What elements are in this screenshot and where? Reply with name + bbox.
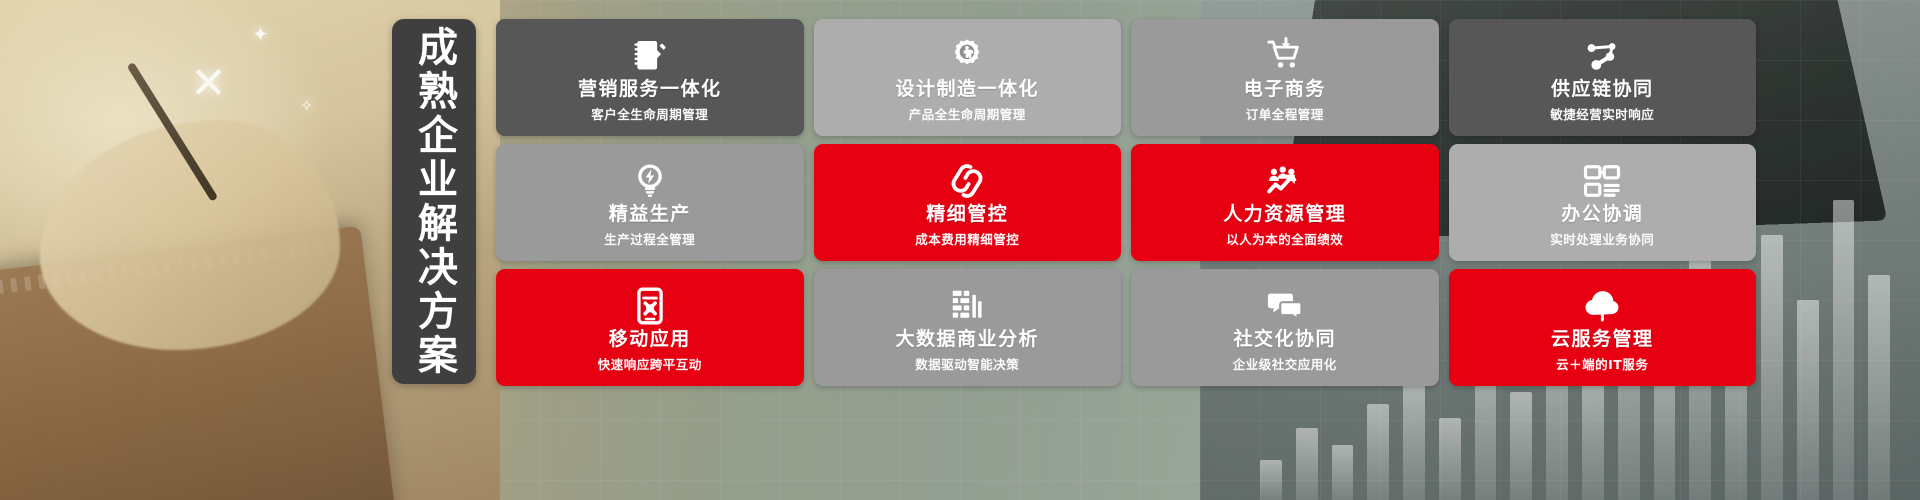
people-growth-arrow-icon: [1266, 161, 1304, 201]
notepad-pencil-icon: [631, 36, 669, 76]
solution-card-subtitle: 成本费用精细管控: [915, 229, 1019, 248]
solution-card-subtitle: 企业级社交应用化: [1233, 354, 1337, 373]
shopping-cart-download-icon: [1266, 36, 1304, 76]
solution-card[interactable]: 大数据商业分析数据驱动智能决策: [814, 269, 1122, 386]
network-nodes-icon: [1583, 36, 1621, 76]
solution-card[interactable]: 设计制造一体化产品全生命周期管理: [814, 19, 1122, 136]
solution-card-title: 设计制造一体化: [895, 79, 1039, 100]
solution-card-title: 社交化协同: [1233, 329, 1336, 350]
solution-card[interactable]: 营销服务一体化客户全生命周期管理: [496, 19, 804, 136]
solution-card-title: 人力资源管理: [1223, 204, 1346, 225]
solution-card-title: 精益生产: [609, 204, 691, 225]
chat-bubbles-icon: [1266, 286, 1304, 326]
solution-card[interactable]: 移动应用快速响应跨平互动: [496, 269, 804, 386]
solution-card[interactable]: 精益生产生产过程全管理: [496, 144, 804, 261]
solution-card-subtitle: 数据驱动智能决策: [915, 354, 1019, 373]
solution-card-subtitle: 云＋端的IT服务: [1556, 354, 1648, 373]
solution-card-subtitle: 生产过程全管理: [604, 229, 695, 248]
solution-card-subtitle: 敏捷经营实时响应: [1550, 104, 1654, 123]
screens-sync-icon: [1583, 161, 1621, 201]
solution-banner: 成熟企业解决方案 营销服务一体化客户全生命周期管理设计制造一体化产品全生命周期管…: [0, 0, 1920, 500]
solution-card-subtitle: 实时处理业务协同: [1550, 229, 1654, 248]
lightbulb-bolt-icon: [631, 161, 669, 201]
page-title-text: 成熟企业解决方案: [413, 26, 455, 378]
page-title: 成熟企业解决方案: [392, 19, 476, 384]
solution-card[interactable]: 电子商务订单全程管理: [1131, 19, 1439, 136]
solution-card-title: 营销服务一体化: [578, 79, 722, 100]
solution-card-title: 电子商务: [1244, 79, 1326, 100]
gear-person-icon: [948, 36, 986, 76]
cloud-upload-icon: [1583, 286, 1621, 326]
solution-card[interactable]: 供应链协同敏捷经营实时响应: [1449, 19, 1757, 136]
solution-card-title: 大数据商业分析: [895, 329, 1039, 350]
solution-card-subtitle: 客户全生命周期管理: [591, 104, 708, 123]
solution-card-title: 云服务管理: [1551, 329, 1654, 350]
solution-card-subtitle: 订单全程管理: [1246, 104, 1324, 123]
solution-card-subtitle: 产品全生命周期管理: [909, 104, 1026, 123]
mobile-phone-icon: [631, 286, 669, 326]
solution-card[interactable]: 办公协调实时处理业务协同: [1449, 144, 1757, 261]
solution-card-title: 办公协调: [1561, 204, 1643, 225]
solution-card-title: 精细管控: [926, 204, 1008, 225]
solution-card-subtitle: 以人为本的全面绩效: [1226, 229, 1343, 248]
solution-card[interactable]: 云服务管理云＋端的IT服务: [1449, 269, 1757, 386]
solution-card-title: 供应链协同: [1551, 79, 1654, 100]
solution-card[interactable]: 精细管控成本费用精细管控: [814, 144, 1122, 261]
solution-card-title: 移动应用: [609, 329, 691, 350]
chain-link-icon: [948, 161, 986, 201]
solution-card[interactable]: 社交化协同企业级社交应用化: [1131, 269, 1439, 386]
data-blocks-icon: [948, 286, 986, 326]
solution-card-grid: 营销服务一体化客户全生命周期管理设计制造一体化产品全生命周期管理电子商务订单全程…: [496, 19, 1756, 386]
solution-card[interactable]: 人力资源管理以人为本的全面绩效: [1131, 144, 1439, 261]
solution-card-subtitle: 快速响应跨平互动: [598, 354, 702, 373]
